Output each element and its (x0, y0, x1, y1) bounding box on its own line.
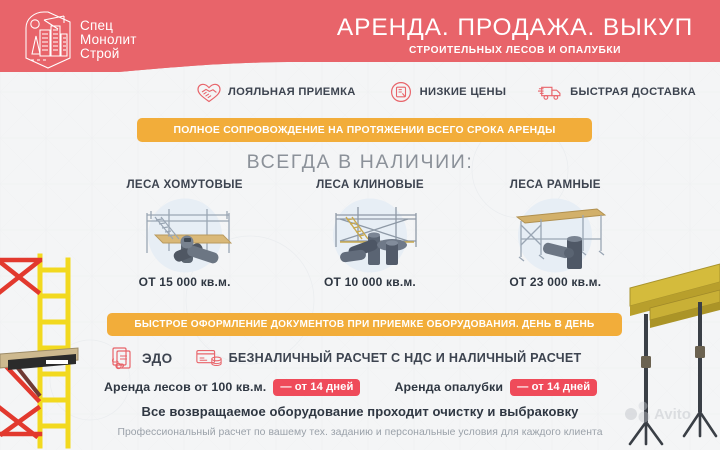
delivery-truck-icon (538, 81, 564, 103)
frame-scaffolding-image (481, 195, 629, 273)
product-name: ЛЕСА ХОМУТОВЫЕ (126, 178, 242, 191)
documents-banner: БЫСТРОЕ ОФОРМЛЕНИЕ ДОКУМЕНТОВ ПРИ ПРИЕМК… (107, 313, 622, 336)
product-name: ЛЕСА КЛИНОВЫЕ (316, 178, 424, 191)
feature-item-fast-delivery: БЫСТРАЯ ДОСТАВКА (538, 81, 696, 103)
feature-item-loyal-acceptance: ЛОЯЛЬНАЯ ПРИЕМКА (196, 81, 356, 103)
svg-text:Avito: Avito (654, 406, 691, 423)
support-banner-text: ПОЛНОЕ СОПРОВОЖДЕНИЕ НА ПРОТЯЖЕНИИ ВСЕГО… (174, 125, 556, 136)
rental-terms-row: Аренда лесов от 100 кв.м. — от 14 дней А… (104, 377, 632, 397)
feature-label: НИЗКИЕ ЦЕНЫ (420, 86, 507, 98)
rental-term-formwork: Аренда опалубки — от 14 дней (394, 379, 597, 396)
rental-term-scaffolding: Аренда лесов от 100 кв.м. — от 14 дней (104, 379, 360, 396)
feature-list: ЛОЯЛЬНАЯ ПРИЕМКА НИЗКИЕ ЦЕНЫ (196, 78, 696, 106)
building-crane-logo-icon (22, 10, 74, 70)
cleaning-note: Все возвращаемое оборудование проходит о… (0, 404, 720, 419)
payment-row: ЭДО БЕЗНАЛИЧНЫЙ РАСЧЕТ С НДС И НАЛИЧНЫЙ … (110, 343, 581, 373)
stock-title: ВСЕГДА В НАЛИЧИИ: (0, 151, 720, 174)
document-exchange-icon (110, 345, 138, 371)
payment-methods-label: БЕЗНАЛИЧНЫЙ РАСЧЕТ С НДС И НАЛИЧНЫЙ РАСЧ… (229, 351, 582, 365)
header-subtitle: СТРОИТЕЛЬНЫХ ЛЕСОВ И ОПАЛУБКИ (330, 45, 700, 56)
product-list: ЛЕСА ХОМУТОВЫЕ (92, 178, 648, 298)
clamp-scaffolding-image (111, 195, 259, 273)
mobile-scaffold-tower-image (0, 248, 92, 450)
header: Спец Монолит Строй АРЕНДА. ПРОДАЖА. ВЫКУ… (0, 0, 720, 72)
feature-label: ЛОЯЛЬНАЯ ПРИЕМКА (228, 86, 356, 98)
brand-line-1: Спец (80, 19, 137, 33)
advertisement-banner: Спец Монолит Строй АРЕНДА. ПРОДАЖА. ВЫКУ… (0, 0, 720, 450)
rental-term-badge: — от 14 дней (273, 379, 360, 396)
rental-term-label: Аренда лесов от 100 кв.м. (104, 380, 266, 394)
edo-label: ЭДО (142, 351, 173, 366)
brand-name: Спец Монолит Строй (80, 19, 137, 62)
product-card-wedge-scaffolding[interactable]: ЛЕСА КЛИНОВЫЕ (277, 178, 462, 298)
brand-logo[interactable]: Спец Монолит Строй (22, 9, 150, 71)
product-price: ОТ 15 000 кв.м. (139, 275, 231, 289)
product-price: ОТ 10 000 кв.м. (324, 275, 416, 289)
card-cash-payment-icon (195, 345, 223, 371)
feature-item-low-prices: НИЗКИЕ ЦЕНЫ (388, 81, 507, 103)
header-title: АРЕНДА. ПРОДАЖА. ВЫКУП (330, 14, 700, 42)
disclaimer-text: Профессиональный расчет по вашему тех. з… (0, 427, 720, 438)
handshake-heart-icon (196, 81, 222, 103)
documents-banner-text: БЫСТРОЕ ОФОРМЛЕНИЕ ДОКУМЕНТОВ ПРИ ПРИЕМК… (134, 319, 594, 330)
rental-term-badge: — от 14 дней (510, 379, 597, 396)
brand-line-2: Монолит (80, 33, 137, 47)
product-card-clamp-scaffolding[interactable]: ЛЕСА ХОМУТОВЫЕ (92, 178, 277, 298)
avito-watermark: Avito (624, 398, 716, 424)
product-price: ОТ 23 000 кв.м. (509, 275, 601, 289)
header-titles: АРЕНДА. ПРОДАЖА. ВЫКУП СТРОИТЕЛЬНЫХ ЛЕСО… (330, 14, 700, 56)
brand-line-3: Строй (80, 47, 137, 61)
rental-term-label: Аренда опалубки (394, 380, 503, 394)
feature-label: БЫСТРАЯ ДОСТАВКА (570, 86, 696, 98)
product-name: ЛЕСА РАМНЫЕ (510, 178, 601, 191)
price-tag-icon (388, 81, 414, 103)
wedge-scaffolding-image (296, 195, 444, 273)
support-banner: ПОЛНОЕ СОПРОВОЖДЕНИЕ НА ПРОТЯЖЕНИИ ВСЕГО… (137, 118, 592, 142)
